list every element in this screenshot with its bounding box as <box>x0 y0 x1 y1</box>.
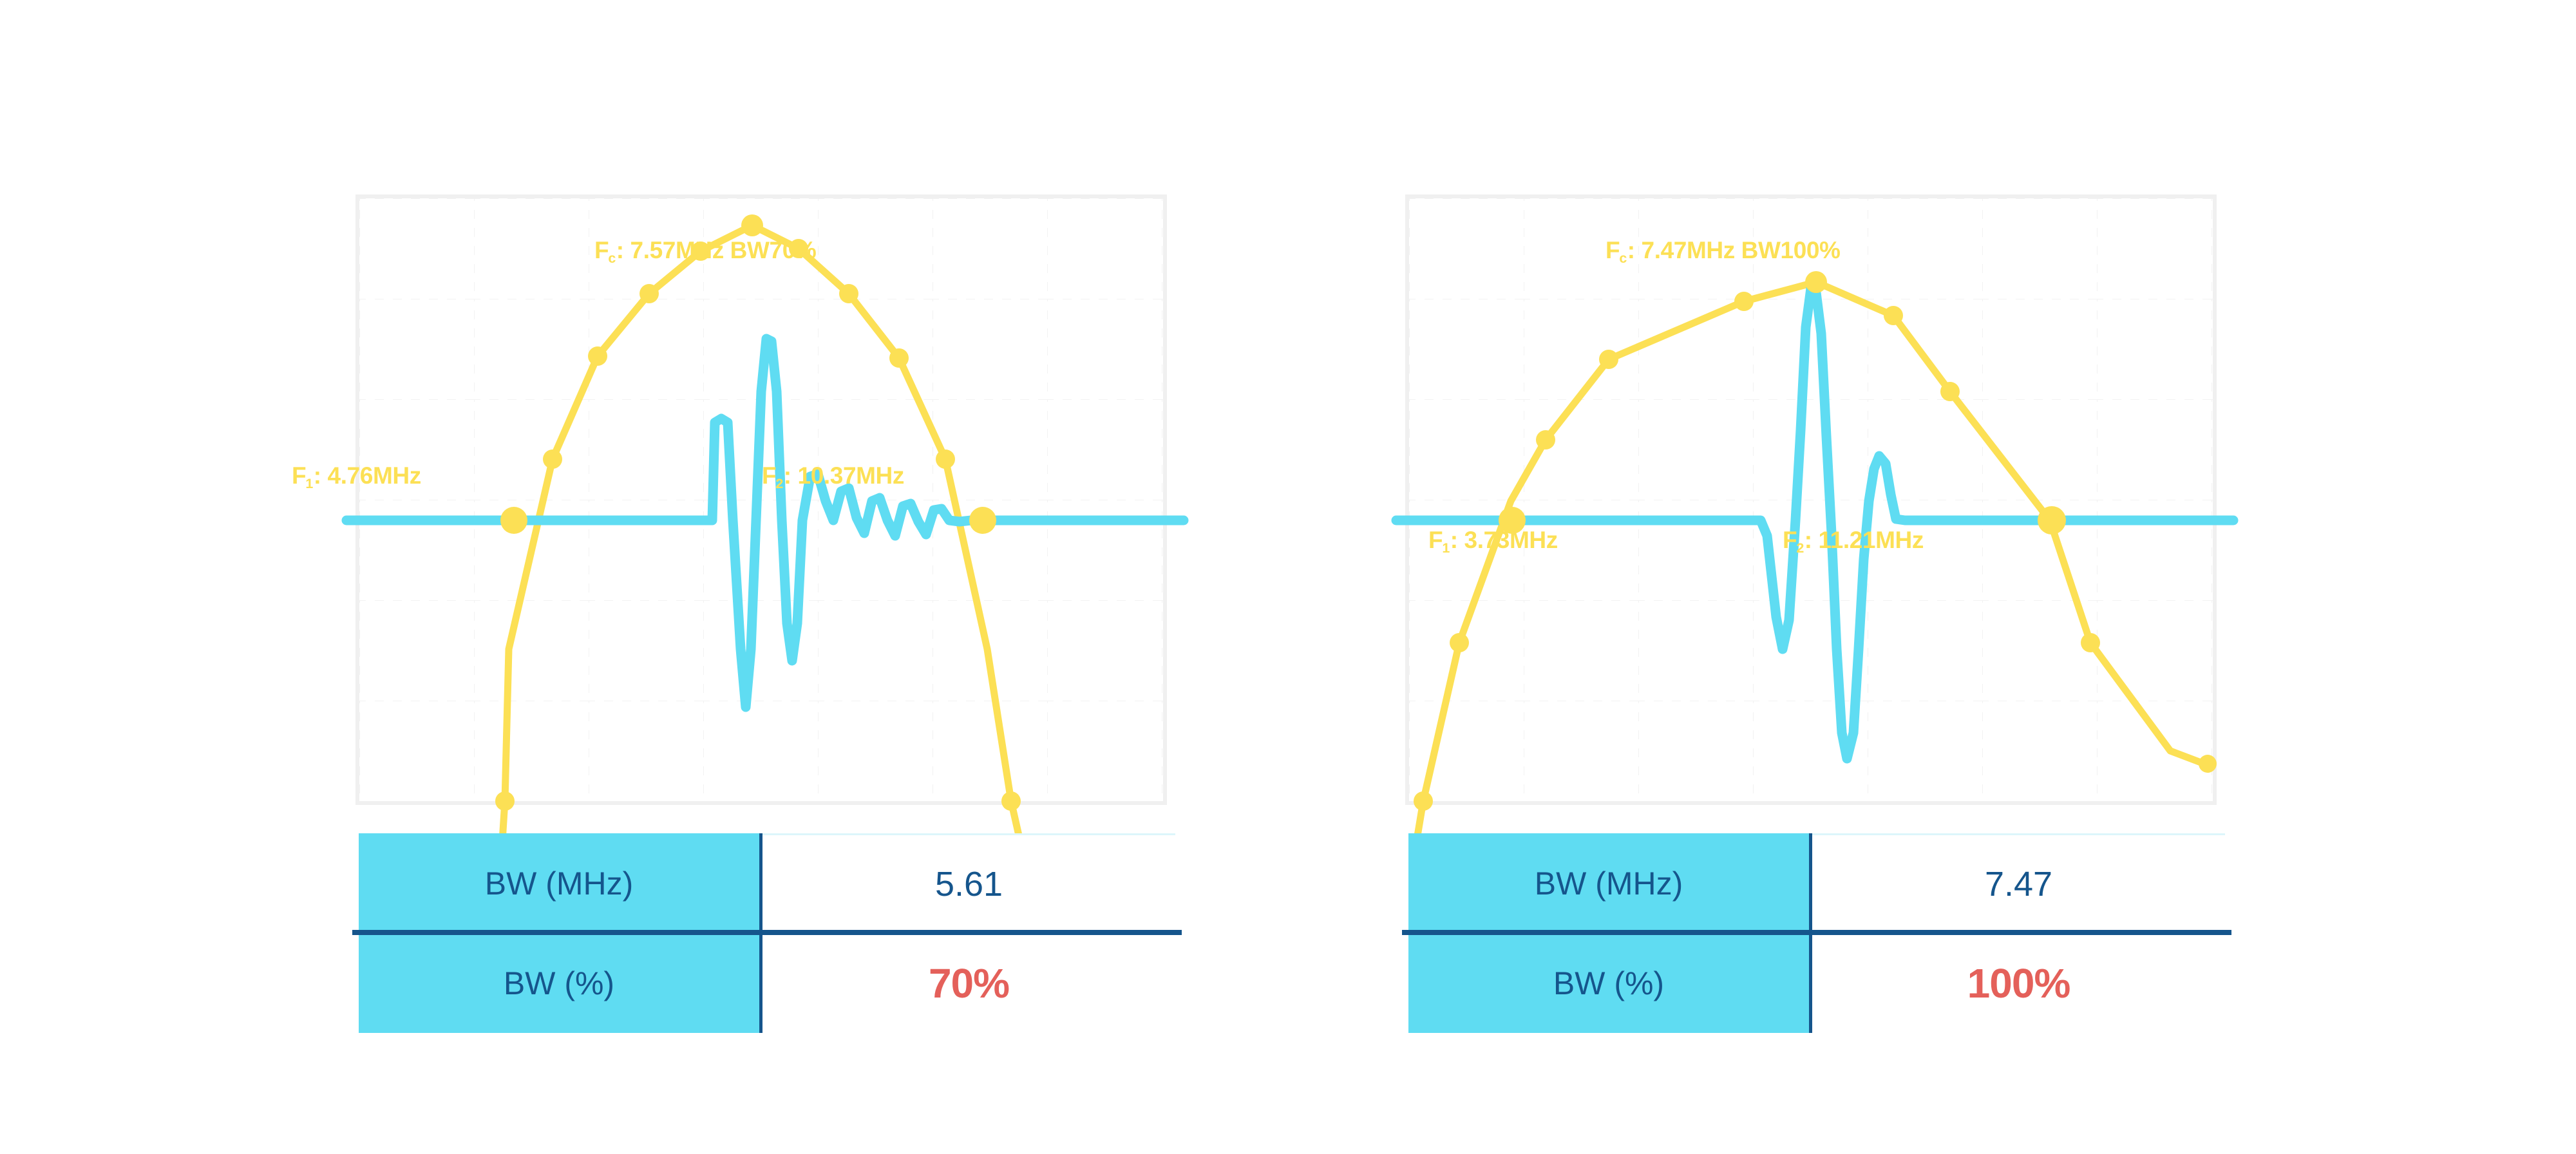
crossing-marker-f2-right <box>2038 506 2066 534</box>
bw-mhz-value-cell-right: 7.47 <box>1812 833 2225 933</box>
chart-right: Fc: 7.47MHz BW100% F1: 3.73MHz F2: 11.21… <box>1405 194 2217 805</box>
table-divider-right <box>1402 930 2231 935</box>
label-fc-subscript: c <box>1619 251 1627 266</box>
bw-mhz-value-right: 7.47 <box>1985 864 2052 904</box>
bw-table-right: BW (MHz) 7.47 BW (%) 100% <box>1408 833 2225 1033</box>
label-upper-cutoff-right: F2: 11.21MHz <box>1783 528 1924 552</box>
bw-mhz-header-right: BW (MHz) <box>1408 833 1812 933</box>
bw-percent-value-left: 70% <box>929 960 1009 1007</box>
chart-left-svg <box>359 198 1163 801</box>
label-f2-subscript: 2 <box>775 476 783 491</box>
bw-mhz-header-left: BW (MHz) <box>359 833 762 933</box>
table-row: BW (MHz) 7.47 <box>1408 833 2225 933</box>
bw-mhz-value-left: 5.61 <box>935 864 1003 904</box>
label-f1-subscript: 1 <box>305 476 313 491</box>
crossing-marker-f2-left <box>969 507 996 534</box>
bw-percent-header-right: BW (%) <box>1408 933 1812 1033</box>
crossing-marker-f1-left <box>500 507 527 534</box>
chart-right-plot: Fc: 7.47MHz BW100% F1: 3.73MHz F2: 11.21… <box>1409 198 2213 801</box>
bw-percent-value-cell-right: 100% <box>1812 933 2225 1033</box>
panel-right: Fc: 7.47MHz BW100% F1: 3.73MHz F2: 11.21… <box>1050 0 2338 1154</box>
label-fc-subscript: c <box>608 251 616 266</box>
label-center-frequency-left: Fc: 7.57MHz BW70% <box>594 238 816 262</box>
label-f1-subscript: 1 <box>1442 540 1450 556</box>
table-row: BW (%) 100% <box>1408 933 2225 1033</box>
chart-left-plot: Fc: 7.57MHz BW70% F1: 4.76MHz F2: 10.37M… <box>359 198 1163 801</box>
label-center-frequency-right: Fc: 7.47MHz BW100% <box>1605 238 1841 262</box>
label-lower-cutoff-right: F1: 3.73MHz <box>1428 528 1558 552</box>
bw-percent-header-left: BW (%) <box>359 933 762 1033</box>
label-f2-subscript: 2 <box>1796 540 1804 556</box>
label-lower-cutoff-left: F1: 4.76MHz <box>292 464 421 487</box>
chart-left: Fc: 7.57MHz BW70% F1: 4.76MHz F2: 10.37M… <box>355 194 1167 805</box>
chart-right-svg <box>1409 198 2213 801</box>
bw-percent-value-right: 100% <box>1967 960 2070 1007</box>
label-upper-cutoff-left: F2: 10.37MHz <box>762 464 904 487</box>
